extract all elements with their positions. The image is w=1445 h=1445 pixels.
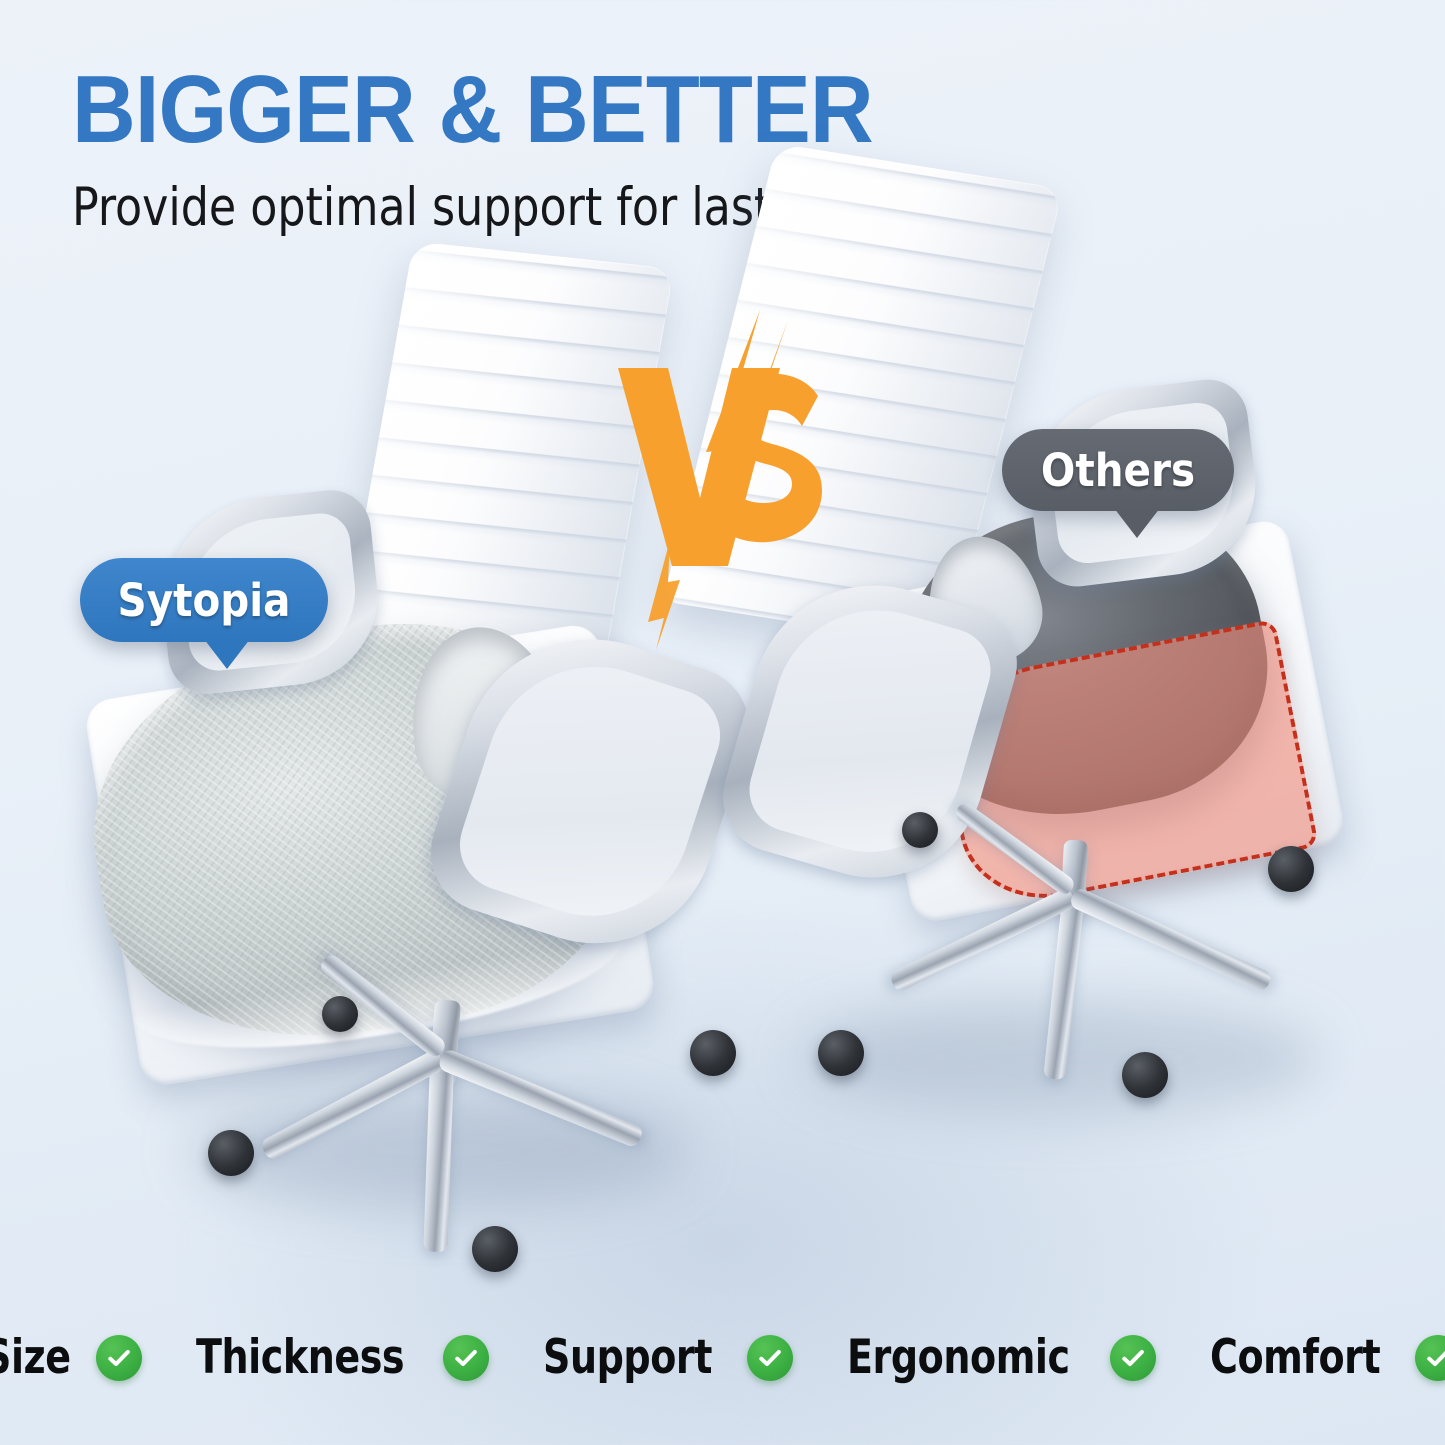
left-chair-caster-3 — [208, 1130, 254, 1176]
left-chair-caster-2 — [690, 1030, 736, 1076]
badge-others-label: Others — [1041, 444, 1195, 497]
feature-item: Thickness — [196, 1330, 489, 1385]
left-chair-caster-4 — [322, 996, 358, 1032]
feature-item: Comfort — [1210, 1330, 1445, 1385]
badge-others-pointer — [1114, 508, 1160, 538]
badge-sytopia-pointer — [204, 639, 250, 669]
feature-label: Support — [543, 1330, 712, 1385]
feature-item: Support — [543, 1330, 793, 1385]
check-icon — [1110, 1335, 1156, 1381]
check-icon — [443, 1335, 489, 1381]
feature-label: Thickness — [196, 1330, 404, 1385]
badge-sytopia: Sytopia — [80, 558, 328, 642]
feature-label: Size — [0, 1330, 70, 1385]
right-chair-caster-3 — [818, 1030, 864, 1076]
right-chair-caster-4 — [902, 812, 938, 848]
vs-icon — [612, 330, 842, 600]
feature-item: Ergonomic — [847, 1330, 1156, 1385]
right-chair-leg-3 — [1068, 886, 1273, 993]
left-chair-caster-1 — [472, 1226, 518, 1272]
badge-sytopia-label: Sytopia — [118, 574, 291, 627]
right-chair-caster-2 — [1268, 846, 1314, 892]
feature-label: Comfort — [1210, 1330, 1380, 1385]
check-icon — [96, 1335, 142, 1381]
badge-others: Others — [1002, 429, 1234, 511]
feature-label: Ergonomic — [847, 1330, 1070, 1385]
check-icon — [747, 1335, 793, 1381]
right-armrest-inner — [740, 586, 1001, 874]
feature-item: Size — [0, 1330, 142, 1385]
right-chair-caster-1 — [1122, 1052, 1168, 1098]
feature-list: Size Thickness Support Ergonomic Comfort — [0, 1330, 1445, 1385]
check-icon — [1415, 1335, 1445, 1381]
comparison-stage: Sytopia Others — [0, 0, 1445, 1445]
